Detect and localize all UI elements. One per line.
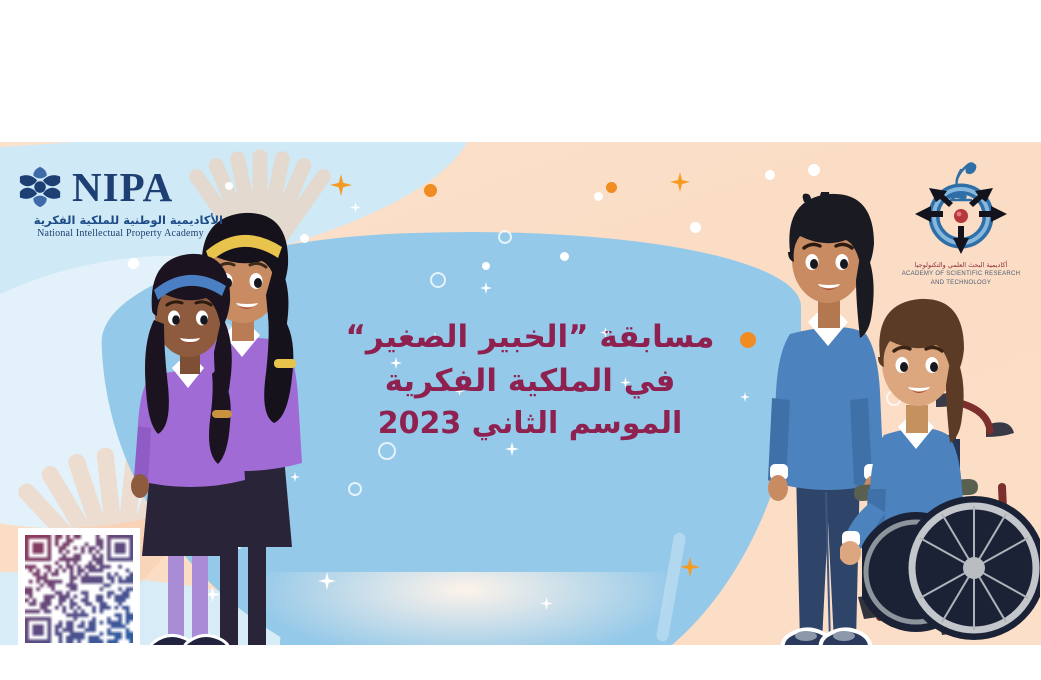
white-4point-sparkle <box>480 282 492 294</box>
asrt-microscope-ring-arrows-icon <box>893 158 1029 254</box>
orange-4point-star <box>330 174 352 196</box>
title-line-1: مسابقة ”الخبير الصغير“ <box>300 315 760 359</box>
white-4point-sparkle <box>540 597 553 610</box>
white-4point-sparkle <box>318 572 336 590</box>
orange-circle-dot <box>424 184 437 197</box>
title-line-2: في الملكية الفكرية <box>300 359 760 403</box>
white-circle-dot <box>594 192 603 201</box>
poster-title: مسابقة ”الخبير الصغير“ في الملكية الفكري… <box>300 315 760 446</box>
white-circle-dot <box>482 262 490 270</box>
white-circle-dot <box>225 182 233 190</box>
nipa-arabic-name: الأكاديمية الوطنية للملكية الفكرية <box>18 213 223 227</box>
white-circle-dot <box>765 170 775 180</box>
orange-4point-star <box>670 172 690 192</box>
poster-artwork: مسابقة ”الخبير الصغير“ في الملكية الفكري… <box>0 142 1041 645</box>
asrt-english-name: ACADEMY OF SCIENTIFIC RESEARCH AND TECHN… <box>893 270 1029 288</box>
white-ring-outline <box>348 482 362 496</box>
nipa-starburst-people-icon <box>18 164 64 210</box>
asrt-english-line-1: ACADEMY OF SCIENTIFIC RESEARCH <box>893 270 1029 279</box>
orange-circle-dot <box>606 182 617 193</box>
qr-code-icon[interactable] <box>18 528 140 645</box>
orange-4point-star <box>680 557 700 577</box>
qr-code-canvas <box>25 535 133 643</box>
asrt-english-line-2: AND TECHNOLOGY <box>893 279 1029 288</box>
white-circle-dot <box>560 252 569 261</box>
poster-canvas: مسابقة ”الخبير الصغير“ في الملكية الفكري… <box>0 0 1041 680</box>
white-circle-dot <box>690 222 701 233</box>
nipa-english-name: National Intellectual Property Academy <box>18 228 223 239</box>
wheelchair-wheel <box>908 450 1040 645</box>
title-line-3: الموسم الثاني 2023 <box>300 403 760 446</box>
white-ring-outline <box>498 230 512 244</box>
nipa-logo: NIPA الأكاديمية الوطنية للملكية الفكرية … <box>18 164 223 239</box>
white-circle-dot <box>808 164 820 176</box>
nipa-wordmark: NIPA <box>72 167 173 208</box>
asrt-arabic-name: أكاديمية البحث العلمي والتكنولوجيا <box>893 261 1029 269</box>
white-ring-outline <box>430 272 446 288</box>
character-girl-front-purple-sweater <box>130 250 250 645</box>
white-4point-sparkle <box>350 202 361 213</box>
asrt-logo: أكاديمية البحث العلمي والتكنولوجيا ACADE… <box>893 158 1029 288</box>
